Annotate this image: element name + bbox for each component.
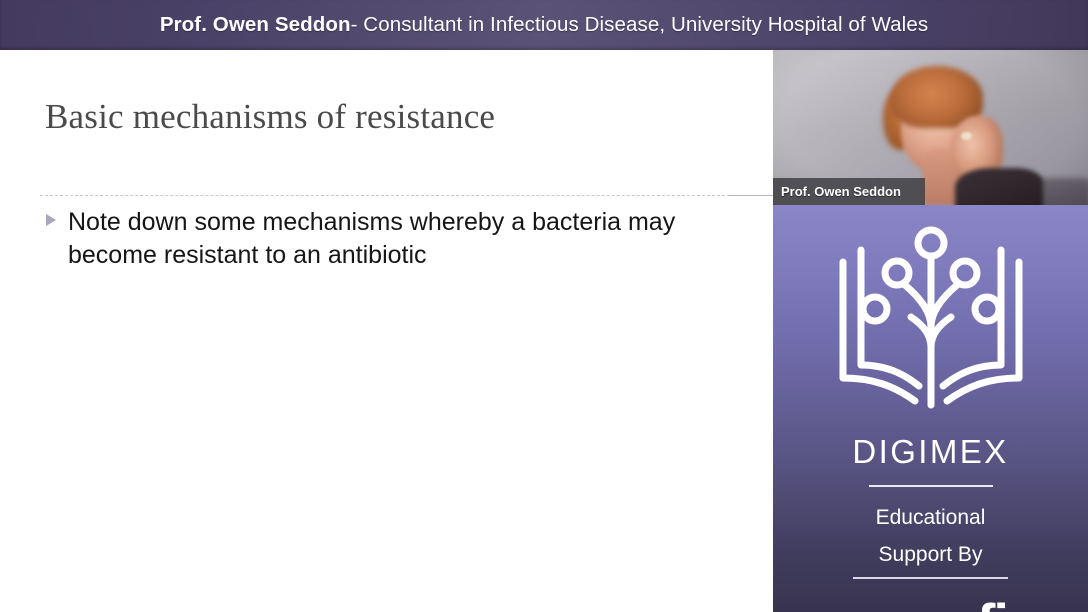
support-line-2: Support By xyxy=(773,543,1088,567)
slide-title: Basic mechanisms of resistance xyxy=(45,97,495,137)
sanofi-wordmark: sanofi xyxy=(773,593,1088,612)
sponsor-divider-bottom xyxy=(853,577,1008,579)
slide-canvas: Basic mechanisms of resistance Note down… xyxy=(0,50,773,612)
sponsor-panel: DIGIMEX Educational Support By sanofi xyxy=(773,205,1088,612)
digimex-logo xyxy=(773,215,1088,430)
title-divider-dashed xyxy=(40,195,730,196)
digimex-wordmark: DIGIMEX xyxy=(773,433,1088,471)
video-name-label-text: Prof. Owen Seddon xyxy=(773,184,901,199)
speaker-role: - Consultant in Infectious Disease, Univ… xyxy=(351,13,929,36)
sponsor-divider-top xyxy=(869,485,993,487)
title-divider-solid xyxy=(728,195,773,196)
slide-bullet-text: Note down some mechanisms whereby a bact… xyxy=(68,206,728,272)
speaker-banner-text: Prof. Owen Seddon- Consultant in Infecti… xyxy=(160,13,928,37)
speaker-banner: Prof. Owen Seddon- Consultant in Infecti… xyxy=(0,0,1088,50)
open-book-circuit-tree-icon xyxy=(831,215,1031,430)
slide-viewer: Prof. Owen Seddon- Consultant in Infecti… xyxy=(0,0,1088,612)
right-sidebar: Prof. Owen Seddon xyxy=(773,50,1088,612)
support-line-1: Educational xyxy=(773,506,1088,530)
bullet-triangle-icon xyxy=(46,214,56,226)
video-name-label: Prof. Owen Seddon xyxy=(773,178,925,205)
speaker-name: Prof. Owen Seddon xyxy=(160,13,351,36)
speaker-video-tile[interactable]: Prof. Owen Seddon xyxy=(773,50,1088,205)
